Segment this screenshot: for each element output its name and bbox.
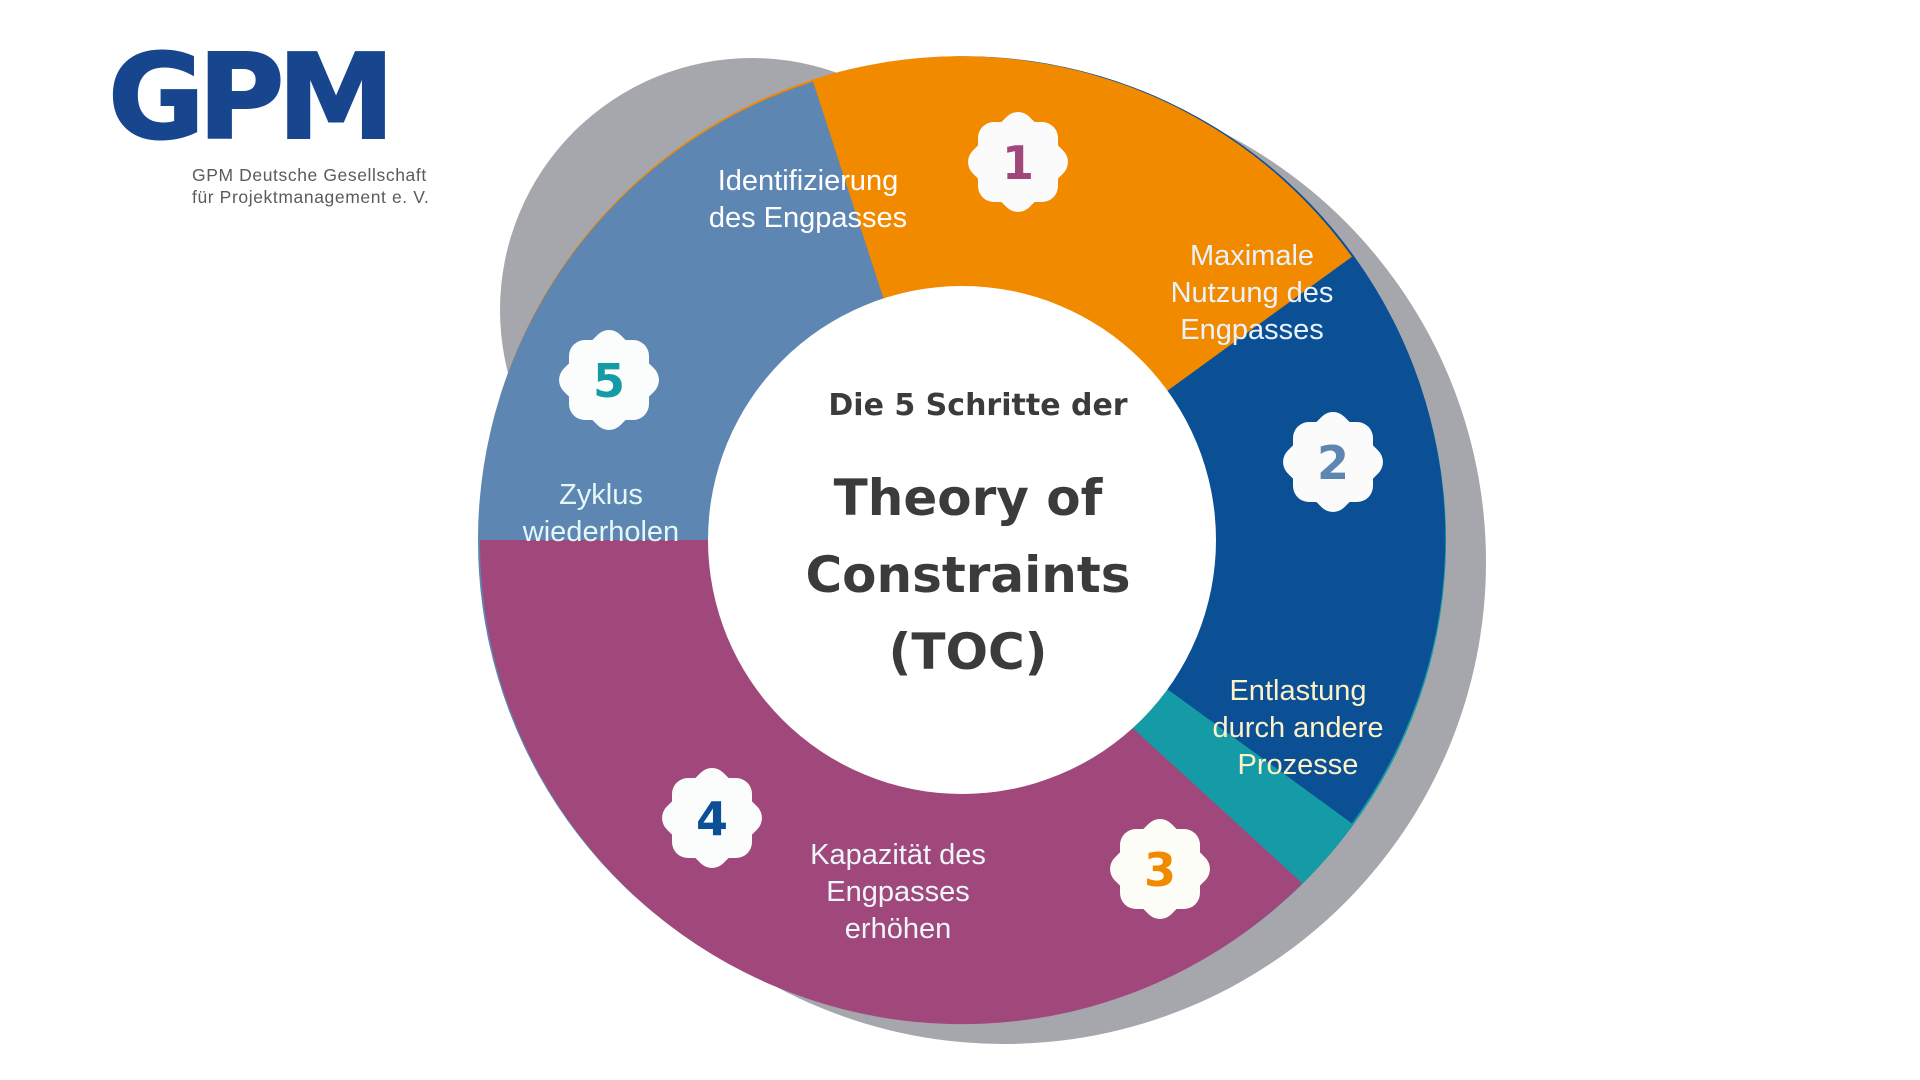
segment-5-label-line-1: Zyklus (559, 479, 643, 511)
segment-4-label-line-2: Engpasses (826, 876, 970, 908)
badge-2-number: 2 (1317, 436, 1349, 490)
badge-3-number: 3 (1144, 843, 1176, 897)
segment-5-label-line-2: wiederholen (522, 516, 679, 548)
center-kicker: Die 5 Schritte der (828, 388, 1127, 423)
segment-4-label-line-1: Kapazität des (810, 839, 986, 871)
segment-1-label-line-1: Identifizierung (718, 165, 899, 197)
segment-2-label-line-3: Engpasses (1180, 314, 1324, 346)
segment-3-label-line-2: durch andere (1213, 712, 1384, 744)
segment-3-label-line-1: Entlastung (1229, 675, 1366, 707)
badge-4-number: 4 (696, 792, 728, 846)
center-disc (708, 286, 1216, 794)
center-title-line-1: Theory of (834, 469, 1104, 527)
segment-2-label-line-2: Nutzung des (1171, 277, 1334, 309)
segment-1-label-line-2: des Engpasses (709, 202, 907, 234)
center-title-line-3: (TOC) (888, 623, 1047, 681)
segment-2-label: Maximale Nutzung des Engpasses (1171, 240, 1334, 346)
center-title-line-2: Constraints (805, 546, 1130, 604)
segment-2-label-line-1: Maximale (1190, 240, 1314, 272)
badge-1-number: 1 (1002, 136, 1034, 190)
badge-5-number: 5 (593, 354, 625, 408)
toc-cycle-diagram: Identifizierung des Engpasses Maximale N… (0, 0, 1920, 1080)
segment-4-label-line-3: erhöhen (845, 913, 951, 945)
segment-3-label-line-3: Prozesse (1238, 749, 1359, 781)
segment-3-label: Entlastung durch andere Prozesse (1213, 675, 1384, 781)
